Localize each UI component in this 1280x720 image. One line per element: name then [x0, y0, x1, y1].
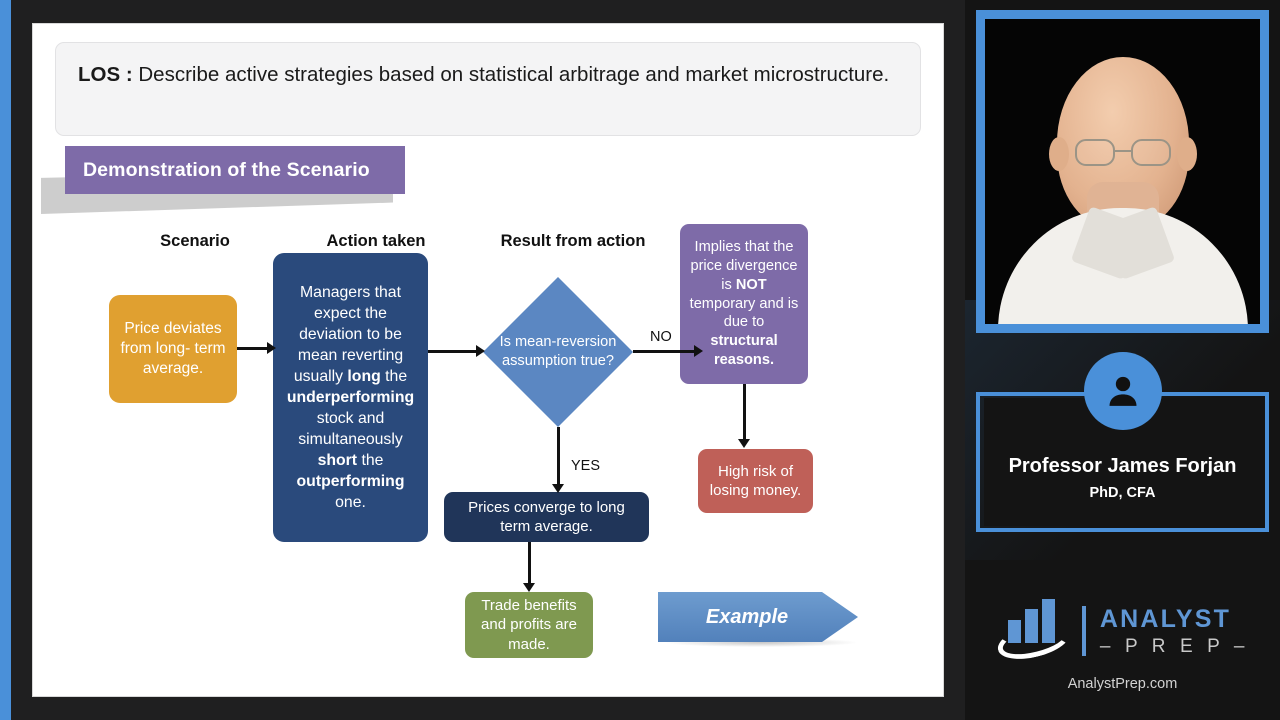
instructor-plate: Professor James Forjan PhD, CFA: [976, 352, 1269, 532]
logo-swoosh-icon: [994, 617, 1074, 666]
flow-node-decision-diamond: Is mean-reversion assumption true?: [483, 277, 633, 427]
brand-url: AnalystPrep.com: [965, 676, 1280, 692]
instructor-credentials: PhD, CFA: [976, 485, 1269, 501]
viewer-edge-accent: [0, 0, 11, 720]
brand-word-prep: – P R E P –: [1100, 637, 1249, 656]
connector-diamond-to-implies: [633, 350, 697, 353]
connector-navy-to-diamond: [428, 350, 478, 353]
flow-node-trade-benefits: Trade benefits and profits are made.: [465, 592, 593, 658]
implies-text: Implies that the price divergence is NOT…: [689, 238, 799, 371]
implies-bold-not: NOT: [736, 277, 767, 293]
app-window: LOS : Describe active strategies based o…: [0, 0, 1280, 720]
flow-node-managers-action: Managers that expect the deviation to be…: [273, 253, 428, 542]
webcam-video-feed[interactable]: [985, 19, 1260, 324]
column-header-action-taken: Action taken: [281, 232, 471, 251]
connector-arrowhead: [476, 345, 485, 357]
instructor-name: Professor James Forjan: [976, 455, 1269, 478]
flow-node-implies-structural: Implies that the price divergence is NOT…: [680, 224, 808, 384]
managers-part-5: one.: [335, 494, 366, 511]
example-banner-label: Example: [658, 592, 858, 642]
connector-arrowhead: [523, 583, 535, 592]
slide-canvas: LOS : Describe active strategies based o…: [33, 24, 943, 696]
section-title-banner: Demonstration of the Scenario: [41, 146, 461, 218]
managers-bold-short: short: [318, 452, 358, 469]
presenter-ear-right: [1177, 137, 1197, 171]
los-label: LOS :: [78, 63, 133, 86]
managers-bold-long: long: [347, 368, 380, 385]
column-header-scenario: Scenario: [105, 232, 285, 251]
los-statement-text: LOS : Describe active strategies based o…: [78, 61, 898, 89]
presenter-glasses-left-lens: [1075, 139, 1115, 166]
managers-bold-outperforming: outperforming: [297, 473, 405, 490]
presenter-ear-left: [1049, 137, 1069, 171]
presenter-glasses-bridge: [1115, 150, 1131, 152]
instructor-sidebar: Professor James Forjan PhD, CFA ANALYST …: [965, 0, 1280, 720]
connector-arrowhead: [267, 342, 276, 354]
slide-viewer: LOS : Describe active strategies based o…: [0, 0, 965, 720]
slide-frame: LOS : Describe active strategies based o…: [11, 0, 965, 720]
connector-arrowhead: [552, 484, 564, 493]
example-banner[interactable]: Example: [658, 592, 858, 642]
logo-divider: [1082, 606, 1086, 656]
managers-part-4: the: [357, 452, 383, 469]
presenter-glasses-right-lens: [1131, 139, 1171, 166]
brand-wordmark: ANALYST – P R E P –: [1100, 607, 1249, 656]
connector-arrowhead: [694, 345, 703, 357]
implies-part-2: temporary and is due to: [690, 296, 799, 331]
person-icon: [1084, 352, 1162, 430]
connector-converge-to-trade-benefits: [528, 542, 531, 586]
managers-part-2: the: [381, 368, 407, 385]
flow-node-high-risk: High risk of losing money.: [698, 449, 813, 513]
connector-implies-to-high-risk: [743, 384, 746, 442]
flow-node-managers-text: Managers that expect the deviation to be…: [282, 282, 419, 513]
edge-label-no: NO: [650, 329, 672, 345]
section-title-label: Demonstration of the Scenario: [83, 159, 370, 182]
section-title-ribbon: Demonstration of the Scenario: [65, 146, 405, 194]
los-statement-box: LOS : Describe active strategies based o…: [55, 42, 921, 136]
column-header-result-from-action: Result from action: [463, 232, 683, 251]
connector-arrowhead: [738, 439, 750, 448]
connector-diamond-to-converge: [557, 427, 560, 487]
webcam-frame[interactable]: [976, 10, 1269, 333]
brand-block: ANALYST – P R E P – AnalystPrep.com: [965, 600, 1280, 692]
bar-chart-icon: [996, 603, 1074, 659]
connector-orange-to-navy: [237, 347, 269, 350]
brand-logo: ANALYST – P R E P –: [965, 600, 1280, 662]
flow-node-price-deviates: Price deviates from long- term average.: [109, 295, 237, 403]
managers-bold-underperforming: underperforming: [287, 389, 414, 406]
flow-node-prices-converge: Prices converge to long term average.: [444, 492, 649, 542]
implies-bold-structural: structural reasons.: [710, 333, 777, 368]
los-body: Describe active strategies based on stat…: [133, 63, 890, 86]
brand-word-analyst: ANALYST: [1100, 607, 1249, 632]
diamond-label: Is mean-reversion assumption true?: [483, 277, 633, 427]
managers-part-3: stock and simultaneously: [298, 410, 403, 448]
edge-label-yes: YES: [571, 458, 600, 474]
